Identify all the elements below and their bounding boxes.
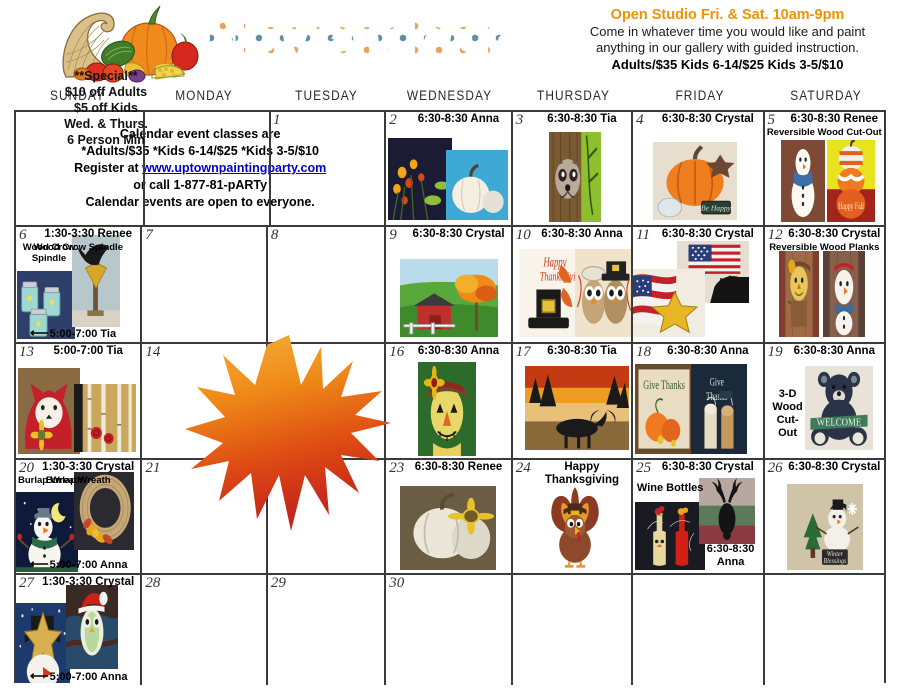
special-line-3: $5 off Kids [0,100,212,116]
artwork-wine-bottles [635,502,705,570]
calendar-cell-day-18[interactable]: 186:30-8:30 AnnaGive ThanksGiveThanks [633,344,764,458]
day-5-subtitle: Reversible Wood Cut-Out [767,127,882,138]
calendar-cell-day-2[interactable]: 26:30-8:30 Anna [386,112,512,225]
day-number-10: 10 [516,227,531,243]
day-20-second-class: ⟵5:00-7:00 Anna [30,558,138,571]
day-25-second-class: 6:30-8:30 Anna [701,543,761,569]
page-title: November [205,8,505,70]
grid-divider [269,112,271,225]
weekday-header-thursday: THURSDAY [520,88,626,103]
day-number-28: 28 [145,575,160,591]
svg-text:Be Happy: Be Happy [701,205,732,213]
info-line-4: or call 1-877-81-pARTy [16,177,384,194]
artwork-white-pumpkins [446,150,508,220]
calendar-cell-day-17[interactable]: 176:30-8:30 Tia [513,344,633,458]
calendar-cell-day-12[interactable]: 126:30-8:30 CrystalReversible Wood Plank… [765,227,884,342]
day-20-subtitle: Burlap Wreath [18,475,84,486]
calendar-cell-day-24[interactable]: 24Happy Thanksgiving [513,460,633,573]
promo-block: Open Studio Fri. & Sat. 10am-9pm Come in… [560,6,895,73]
calendar-cell-day-13[interactable]: 135:00-7:00 Tia [16,344,142,458]
left-arrow-icon: ⟵ [30,556,47,571]
artwork-turkey [539,480,611,570]
day-12-subtitle: Reversible Wood Planks [767,242,882,253]
day-2-class-info: 6:30-8:30 Anna [408,113,508,126]
day-3-class-info: 6:30-8:30 Tia [535,113,629,126]
day-10-class-info: 6:30-8:30 Anna [535,228,629,241]
calendar-cell-day-29[interactable]: 29 [268,575,386,685]
artwork-fall-flowers [388,138,452,220]
artwork-deer-silhouette [699,478,755,544]
register-prefix: Register at [74,161,142,175]
calendar-cell-day-11[interactable]: 116:30-8:30 Crystal [633,227,764,342]
day-6-note-text: 5:00-7:00 Tia [50,328,116,340]
promo-pricing: Adults/$35 Kids 6-14/$25 Kids 3-5/$10 [560,56,895,73]
artwork-give-thanks-pumpkin: Give Thanks [635,364,693,454]
day-number-5: 5 [768,112,776,128]
day-number-14: 14 [145,344,160,360]
day-13-class-info: 5:00-7:00 Tia [38,345,138,358]
artwork-winter-blessings: WinterBlessings [787,484,863,570]
day-27-note-text: 5:00-7:00 Anna [50,671,128,683]
svg-text:Give: Give [710,376,724,389]
calendar-cell-day-8[interactable]: 8 [268,227,386,342]
day-number-2: 2 [389,112,397,128]
calendar-cell-empty [633,575,764,685]
day-number-27: 27 [19,575,34,591]
artwork-stacked-pumpkin: Happy Fall [827,140,875,222]
day-number-6: 6 [19,227,27,243]
calendar-cell-day-6[interactable]: 61:30-3:30 ReneeWood Crow Spindle⟵5:00-7… [16,227,142,342]
day-number-20: 20 [19,460,34,476]
calendar-cell-day-4[interactable]: 46:30-8:30 CrystalBe Happy [633,112,764,225]
day-number-1: 1 [273,112,281,128]
artwork-white-pumpkin-sunflower [400,486,496,570]
day-12-class-info: 6:30-8:30 Crystal [787,228,882,241]
day-23-class-info: 6:30-8:30 Renee [408,461,508,474]
artwork-moose-sunset [525,366,629,450]
day-27-class-info: 1:30-3:30 Crystal [38,576,138,589]
special-line-1: **Special** [0,68,212,84]
day-17-class-info: 6:30-8:30 Tia [535,345,629,358]
left-arrow-icon: ⟵ [30,668,47,683]
day-number-12: 12 [768,227,783,243]
day-27-second-class: ⟵5:00-7:00 Anna [30,670,138,683]
calendar-cell-day-3[interactable]: 36:30-8:30 Tia [513,112,633,225]
day-number-30: 30 [389,575,404,591]
weekday-header-saturday: SATURDAY [773,88,879,103]
day-19-side-label: 3-DWoodCut-Out [769,388,807,440]
day-number-4: 4 [636,112,644,128]
day-4-class-info: 6:30-8:30 Crystal [655,113,760,126]
day-6-second-class: ⟵5:00-7:00 Tia [30,327,138,340]
info-line-3: Register at www.uptownpaintingparty.com [16,160,384,177]
day-26-class-info: 6:30-8:30 Crystal [787,461,882,474]
day-number-17: 17 [516,344,531,360]
calendar-grid: 1Calendar event classes are*Adults/$35 *… [14,110,886,683]
calendar-cell-day-20[interactable]: 201:30-3:30 CrystalBurlap Wreath⟵5:00-7:… [16,460,142,573]
weekday-header-wednesday: WEDNESDAY [394,88,506,103]
left-arrow-icon: ⟵ [30,325,47,340]
info-line-5: Calendar events are open to everyone. [16,194,384,211]
artwork-raccoon [549,132,601,222]
svg-text:Happy Fall: Happy Fall [838,200,864,211]
day-25-side-label: Wine Bottles [635,482,705,495]
day-number-18: 18 [636,344,651,360]
calendar-cell-day-16[interactable]: 166:30-8:30 Anna [386,344,512,458]
special-line-4: Wed. & Thurs. [0,116,212,132]
day-20-class-info: 1:30-3:30 Crystal [38,461,138,474]
day-5-class-info: 6:30-8:30 Renee [787,113,882,126]
special-offer-starburst [183,333,395,533]
artwork-pilgrim-hat: HappyThanksgiving [519,249,577,337]
artwork-plank-scarecrow [779,251,819,337]
svg-text:Blessings: Blessings [823,558,846,565]
special-line-5: 6 Person Min [0,132,212,148]
website-link[interactable]: www.uptownpaintingparty.com [142,161,326,175]
artwork-pumpkin-sign: Be Happy [653,142,737,220]
calendar-cell-day-10[interactable]: 106:30-8:30 AnnaHappyThanksgiving [513,227,633,342]
day-20-note-text: 5:00-7:00 Anna [50,559,128,571]
day-number-11: 11 [636,227,650,243]
promo-headline: Open Studio Fri. & Sat. 10am-9pm [560,6,895,24]
special-offer-text: **Special** $10 off Adults $5 off Kids W… [0,68,212,148]
artwork-barn-fall [400,259,498,337]
calendar-cell-day-26[interactable]: 266:30-8:30 CrystalWinterBlessings [765,460,884,573]
day-number-24: 24 [516,460,531,476]
artwork-scarecrow [418,362,476,456]
calendar-cell-day-9[interactable]: 96:30-8:30 Crystal [386,227,512,342]
calendar-week-row: 61:30-3:30 ReneeWood Crow Spindle⟵5:00-7… [16,227,884,344]
svg-text:Give Thanks: Give Thanks [643,380,684,393]
artwork-flag-star [633,269,705,337]
day-6-class-info: 1:30-3:30 Renee [38,228,138,241]
artwork-christmas-owl [66,585,118,669]
artwork-fox-sunflower [18,368,80,454]
day-number-13: 13 [19,344,34,360]
day-number-3: 3 [516,112,524,128]
calendar-week-row: 135:00-7:00 Tia1415166:30-8:30 Anna176:3… [16,344,884,460]
artwork-give-thanks-pilgrims: GiveThanks [691,364,747,454]
svg-text:Thanksgiving: Thanksgiving [540,271,577,284]
day-6-subtitle: Wood Crow Spindle [18,242,80,264]
calendar-cell-empty [765,575,884,685]
calendar-cell-empty [513,575,633,685]
calendar-week-row: 271:30-3:30 Crystal⟵5:00-7:00 Anna282930 [16,575,884,685]
day-number-19: 19 [768,344,783,360]
promo-detail-1: Come in whatever time you would like and… [560,24,895,40]
calendar-cell-day-30[interactable]: 30 [386,575,512,685]
artwork-plank-snowman [823,251,865,337]
day-number-25: 25 [636,460,651,476]
svg-text:WELCOME: WELCOME [816,417,861,429]
calendar-cell-day-5[interactable]: 56:30-8:30 ReneeReversible Wood Cut-OutH… [765,112,884,225]
day-19-class-info: 6:30-8:30 Anna [787,345,882,358]
day-number-26: 26 [768,460,783,476]
day-25-class-info: 6:30-8:30 Crystal [655,461,760,474]
weekday-header-friday: FRIDAY [642,88,758,103]
calendar-cell-day-19[interactable]: 196:30-8:30 AnnaWELCOME3-DWoodCut-Out [765,344,884,458]
weekday-header-tuesday: TUESDAY [274,88,379,103]
calendar-cell-day-23[interactable]: 236:30-8:30 Renee [386,460,512,573]
day-number-8: 8 [271,227,279,243]
calendar-cell-day-7[interactable]: 7 [142,227,267,342]
artwork-snowman-cutout [781,140,825,222]
day-24-class-info: Happy Thanksgiving [535,461,629,487]
day-number-7: 7 [145,227,153,243]
day-11-class-info: 6:30-8:30 Crystal [655,228,760,241]
artwork-welcome-bear: WELCOME [805,366,873,450]
promo-detail-2: anything in our gallery with guided inst… [560,40,895,56]
special-line-2: $10 off Adults [0,84,212,100]
calendar-cell-day-28[interactable]: 28 [142,575,267,685]
day-18-class-info: 6:30-8:30 Anna [655,345,760,358]
artwork-birch-trees [74,384,136,452]
calendar-cell-day-25[interactable]: 256:30-8:30 CrystalWine Bottles6:30-8:30… [633,460,764,573]
artwork-owls [575,249,633,337]
day-number-9: 9 [389,227,397,243]
calendar-cell-day-27[interactable]: 271:30-3:30 Crystal⟵5:00-7:00 Anna [16,575,142,685]
day-number-21: 21 [145,460,160,476]
day-16-class-info: 6:30-8:30 Anna [408,345,508,358]
calendar-week-row: 201:30-3:30 CrystalBurlap Wreath⟵5:00-7:… [16,460,884,575]
day-number-29: 29 [271,575,286,591]
day-9-class-info: 6:30-8:30 Crystal [408,228,508,241]
